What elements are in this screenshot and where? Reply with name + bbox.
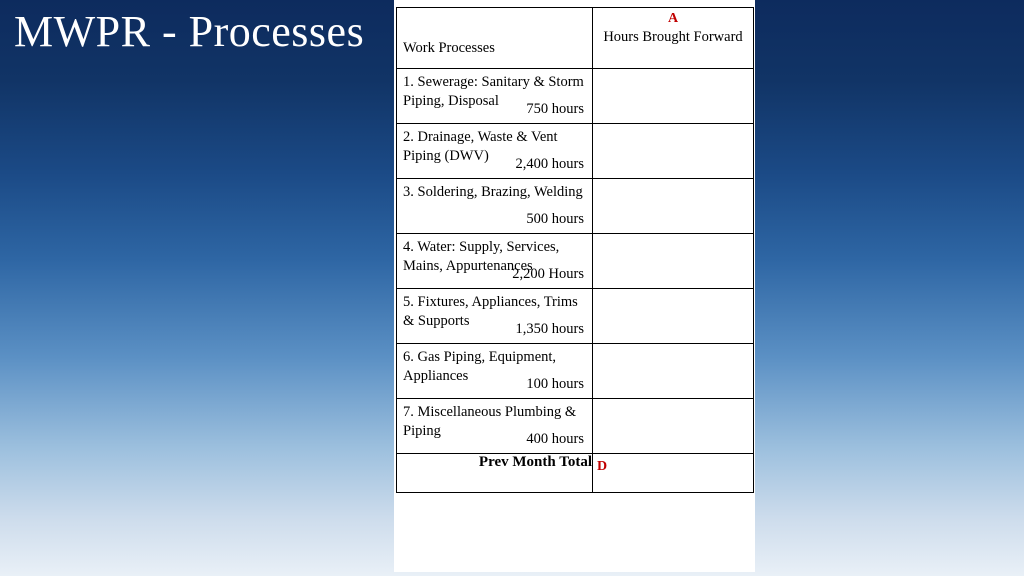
- brought-forward-input-4[interactable]: [593, 234, 754, 289]
- total-value-cell[interactable]: D: [593, 454, 754, 493]
- process-cell-5: 5. Fixtures, Appliances, Trims & Support…: [397, 289, 593, 344]
- header-label-work-processes: Work Processes: [397, 34, 501, 62]
- header-label-hours-brought-forward: Hours Brought Forward: [593, 26, 753, 46]
- brought-forward-input-3[interactable]: [593, 179, 754, 234]
- process-cell-3: 3. Soldering, Brazing, Welding 500 hours: [397, 179, 593, 234]
- table-row: 4. Water: Supply, Services, Mains, Appur…: [397, 234, 754, 289]
- brought-forward-input-7[interactable]: [593, 399, 754, 454]
- process-hours-2: 2,400 hours: [510, 156, 592, 176]
- table-row: 2. Drainage, Waste & Vent Piping (DWV) 2…: [397, 124, 754, 179]
- brought-forward-input-6[interactable]: [593, 344, 754, 399]
- column-letter-d: D: [597, 459, 607, 475]
- brought-forward-input-2[interactable]: [593, 124, 754, 179]
- column-letter-a: A: [593, 8, 753, 26]
- table-header-row: Work Processes A Hours Brought Forward: [397, 8, 754, 69]
- header-cell-hours-brought-forward: A Hours Brought Forward: [593, 8, 754, 69]
- process-cell-7: 7. Miscellaneous Plumbing & Piping 400 h…: [397, 399, 593, 454]
- brought-forward-input-1[interactable]: [593, 69, 754, 124]
- process-hours-1: 750 hours: [520, 101, 592, 121]
- process-cell-1: 1. Sewerage: Sanitary & Storm Piping, Di…: [397, 69, 593, 124]
- table-row: 7. Miscellaneous Plumbing & Piping 400 h…: [397, 399, 754, 454]
- table-row: 1. Sewerage: Sanitary & Storm Piping, Di…: [397, 69, 754, 124]
- mwpr-table-container: Work Processes A Hours Brought Forward 1…: [396, 7, 753, 567]
- table-row: 6. Gas Piping, Equipment, Appliances 100…: [397, 344, 754, 399]
- process-cell-4: 4. Water: Supply, Services, Mains, Appur…: [397, 234, 593, 289]
- brought-forward-input-5[interactable]: [593, 289, 754, 344]
- process-hours-3: 500 hours: [520, 211, 592, 231]
- table-row: 3. Soldering, Brazing, Welding 500 hours: [397, 179, 754, 234]
- table-row: 5. Fixtures, Appliances, Trims & Support…: [397, 289, 754, 344]
- process-hours-5: 1,350 hours: [510, 321, 592, 341]
- page-title: MWPR - Processes: [14, 6, 364, 57]
- total-label: Prev Month Total: [397, 454, 593, 493]
- process-cell-6: 6. Gas Piping, Equipment, Appliances 100…: [397, 344, 593, 399]
- mwpr-processes-table: Work Processes A Hours Brought Forward 1…: [396, 7, 754, 493]
- slide: MWPR - Processes Work Processes A Hours …: [0, 0, 1024, 576]
- table-total-row: Prev Month Total D: [397, 454, 754, 493]
- process-hours-6: 100 hours: [520, 376, 592, 396]
- process-title-3: 3. Soldering, Brazing, Welding: [397, 179, 592, 202]
- process-hours-4: 2,200 Hours: [506, 266, 592, 286]
- header-cell-work-processes: Work Processes: [397, 8, 593, 69]
- process-cell-2: 2. Drainage, Waste & Vent Piping (DWV) 2…: [397, 124, 593, 179]
- process-hours-7: 400 hours: [520, 431, 592, 451]
